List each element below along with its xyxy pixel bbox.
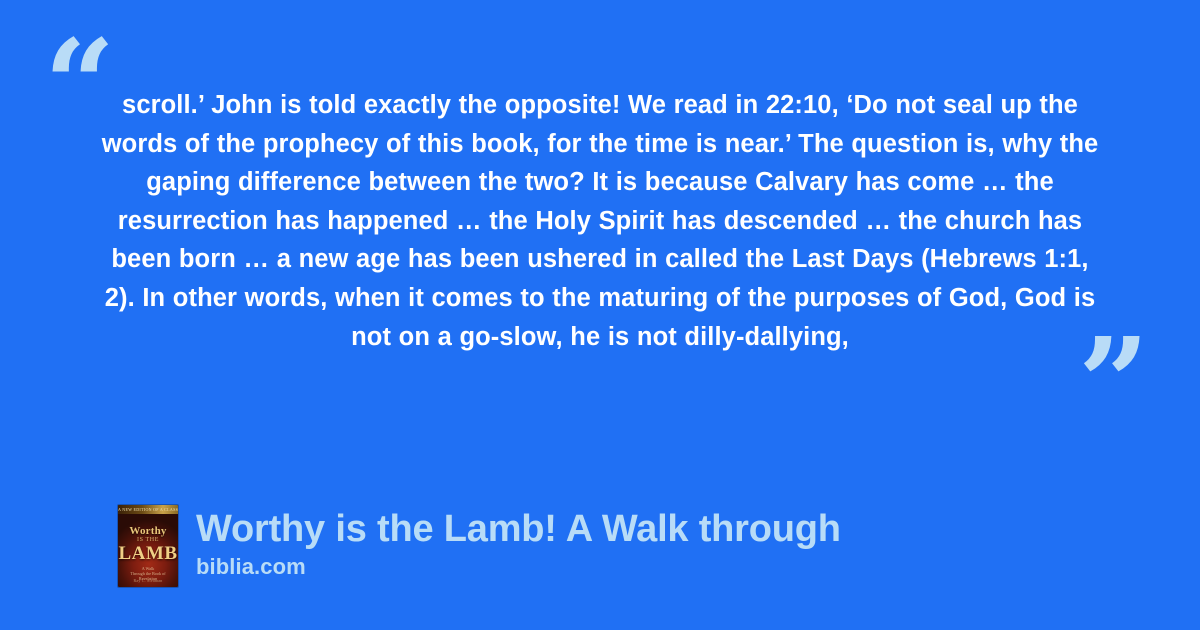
- book-cover-title-lamb: LAMB: [118, 544, 178, 563]
- quote-text: scroll.’ John is told exactly the opposi…: [100, 86, 1100, 356]
- quote-block: scroll.’ John is told exactly the opposi…: [100, 86, 1100, 356]
- book-cover-title-worthy: Worthy: [118, 525, 178, 537]
- book-cover-band-text: A NEW EDITION OF A CLASSIC: [118, 507, 178, 512]
- footer-text-block: Worthy is the Lamb! A Walk through bibli…: [196, 505, 841, 581]
- footer: A NEW EDITION OF A CLASSIC Worthy IS THE…: [118, 505, 841, 587]
- book-cover-thumbnail: A NEW EDITION OF A CLASSIC Worthy IS THE…: [118, 505, 178, 587]
- book-cover-top-band: A NEW EDITION OF A CLASSIC: [118, 505, 178, 514]
- quote-card: “ ” scroll.’ John is told exactly the op…: [0, 0, 1200, 630]
- book-cover-author: Ray C. Stedman: [118, 578, 178, 583]
- source-site: biblia.com: [196, 553, 841, 581]
- book-title: Worthy is the Lamb! A Walk through: [196, 507, 841, 551]
